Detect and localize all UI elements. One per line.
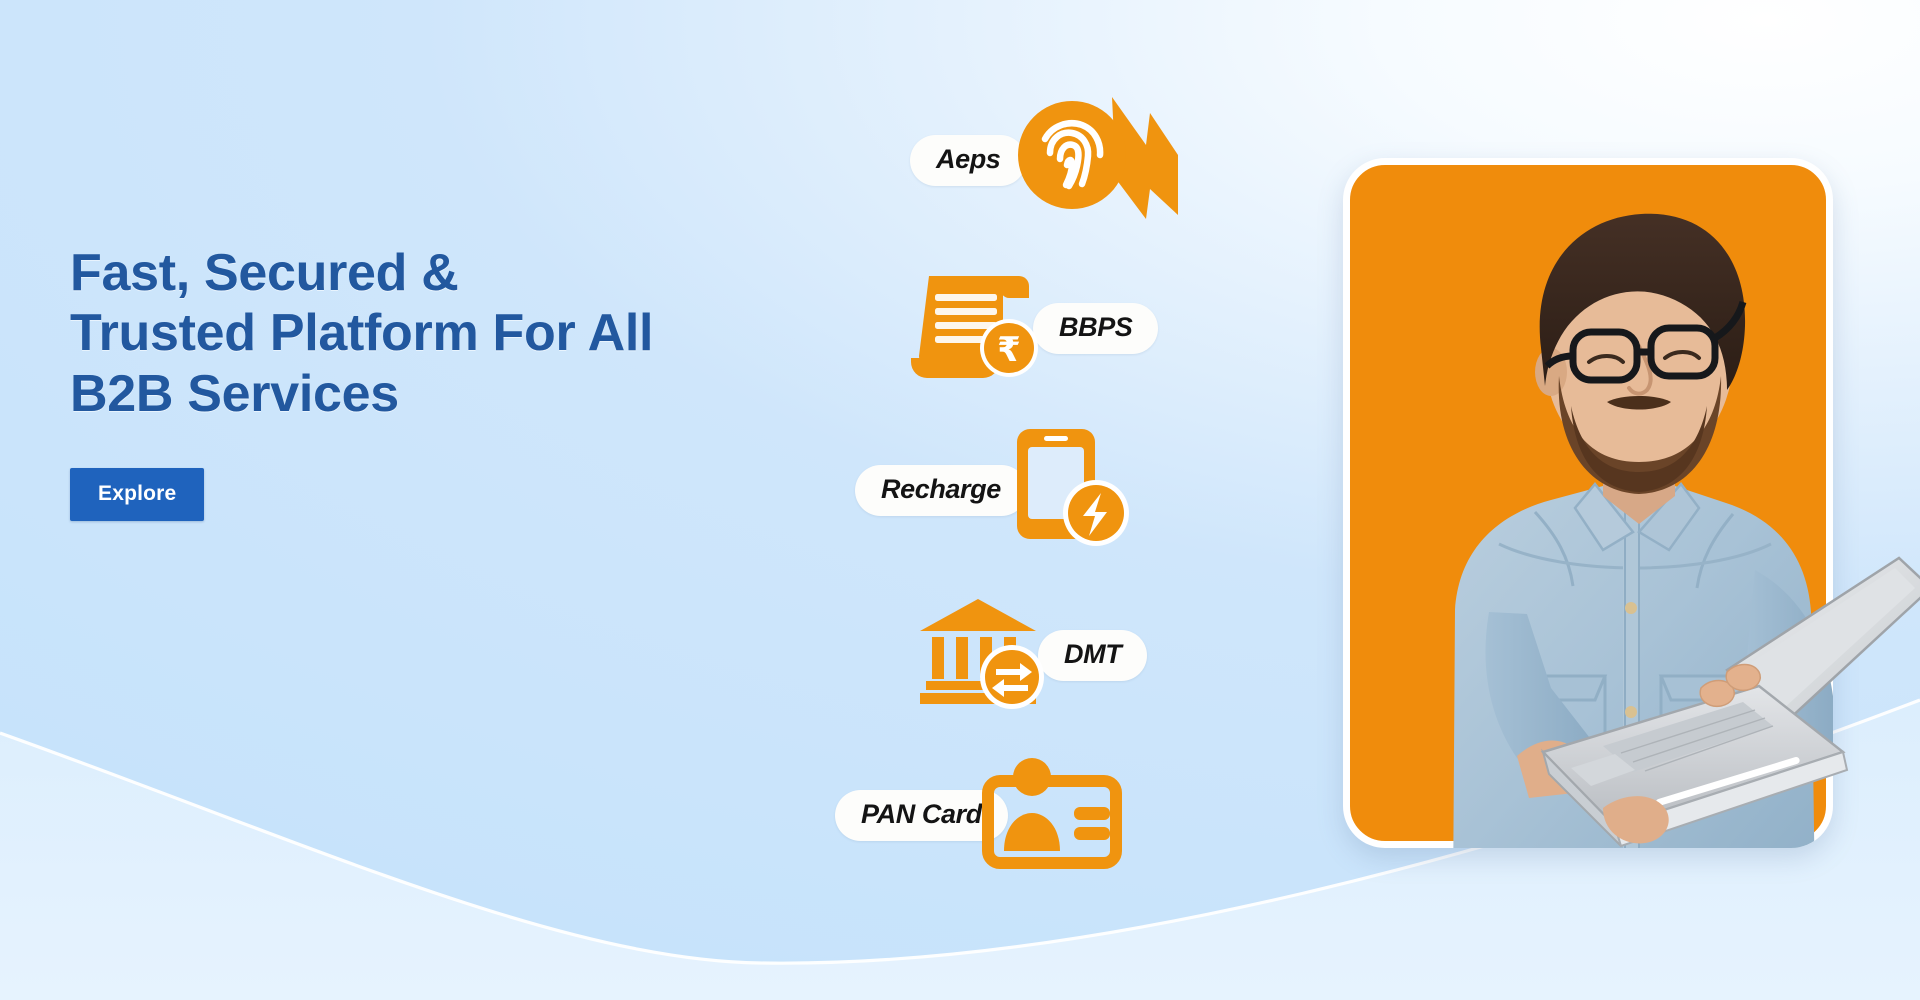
phone-bolt-icon (1001, 425, 1131, 555)
fingerprint-icon (1000, 93, 1200, 228)
service-badge-pan-card[interactable]: PAN Card (835, 750, 1122, 880)
hero-copy-block: Fast, Secured & Trusted Platform For All… (70, 243, 850, 521)
id-card-icon (982, 755, 1122, 875)
svg-text:₹: ₹ (997, 330, 1021, 370)
service-badge-list: Aeps (955, 95, 1315, 905)
explore-button[interactable]: Explore (70, 468, 204, 521)
service-badge-aeps[interactable]: Aeps (910, 95, 1200, 225)
orange-card-background (1343, 158, 1833, 848)
hero-photo-card (1343, 158, 1833, 848)
bill-rupee-icon: ₹ (905, 266, 1055, 391)
bank-transfer-icon (920, 593, 1060, 718)
service-badge-bbps[interactable]: ₹ BBPS (905, 263, 1158, 393)
service-badge-dmt[interactable]: DMT (920, 590, 1147, 720)
service-badge-recharge[interactable]: Recharge (855, 425, 1131, 555)
page-title: Fast, Secured & Trusted Platform For All… (70, 243, 850, 424)
